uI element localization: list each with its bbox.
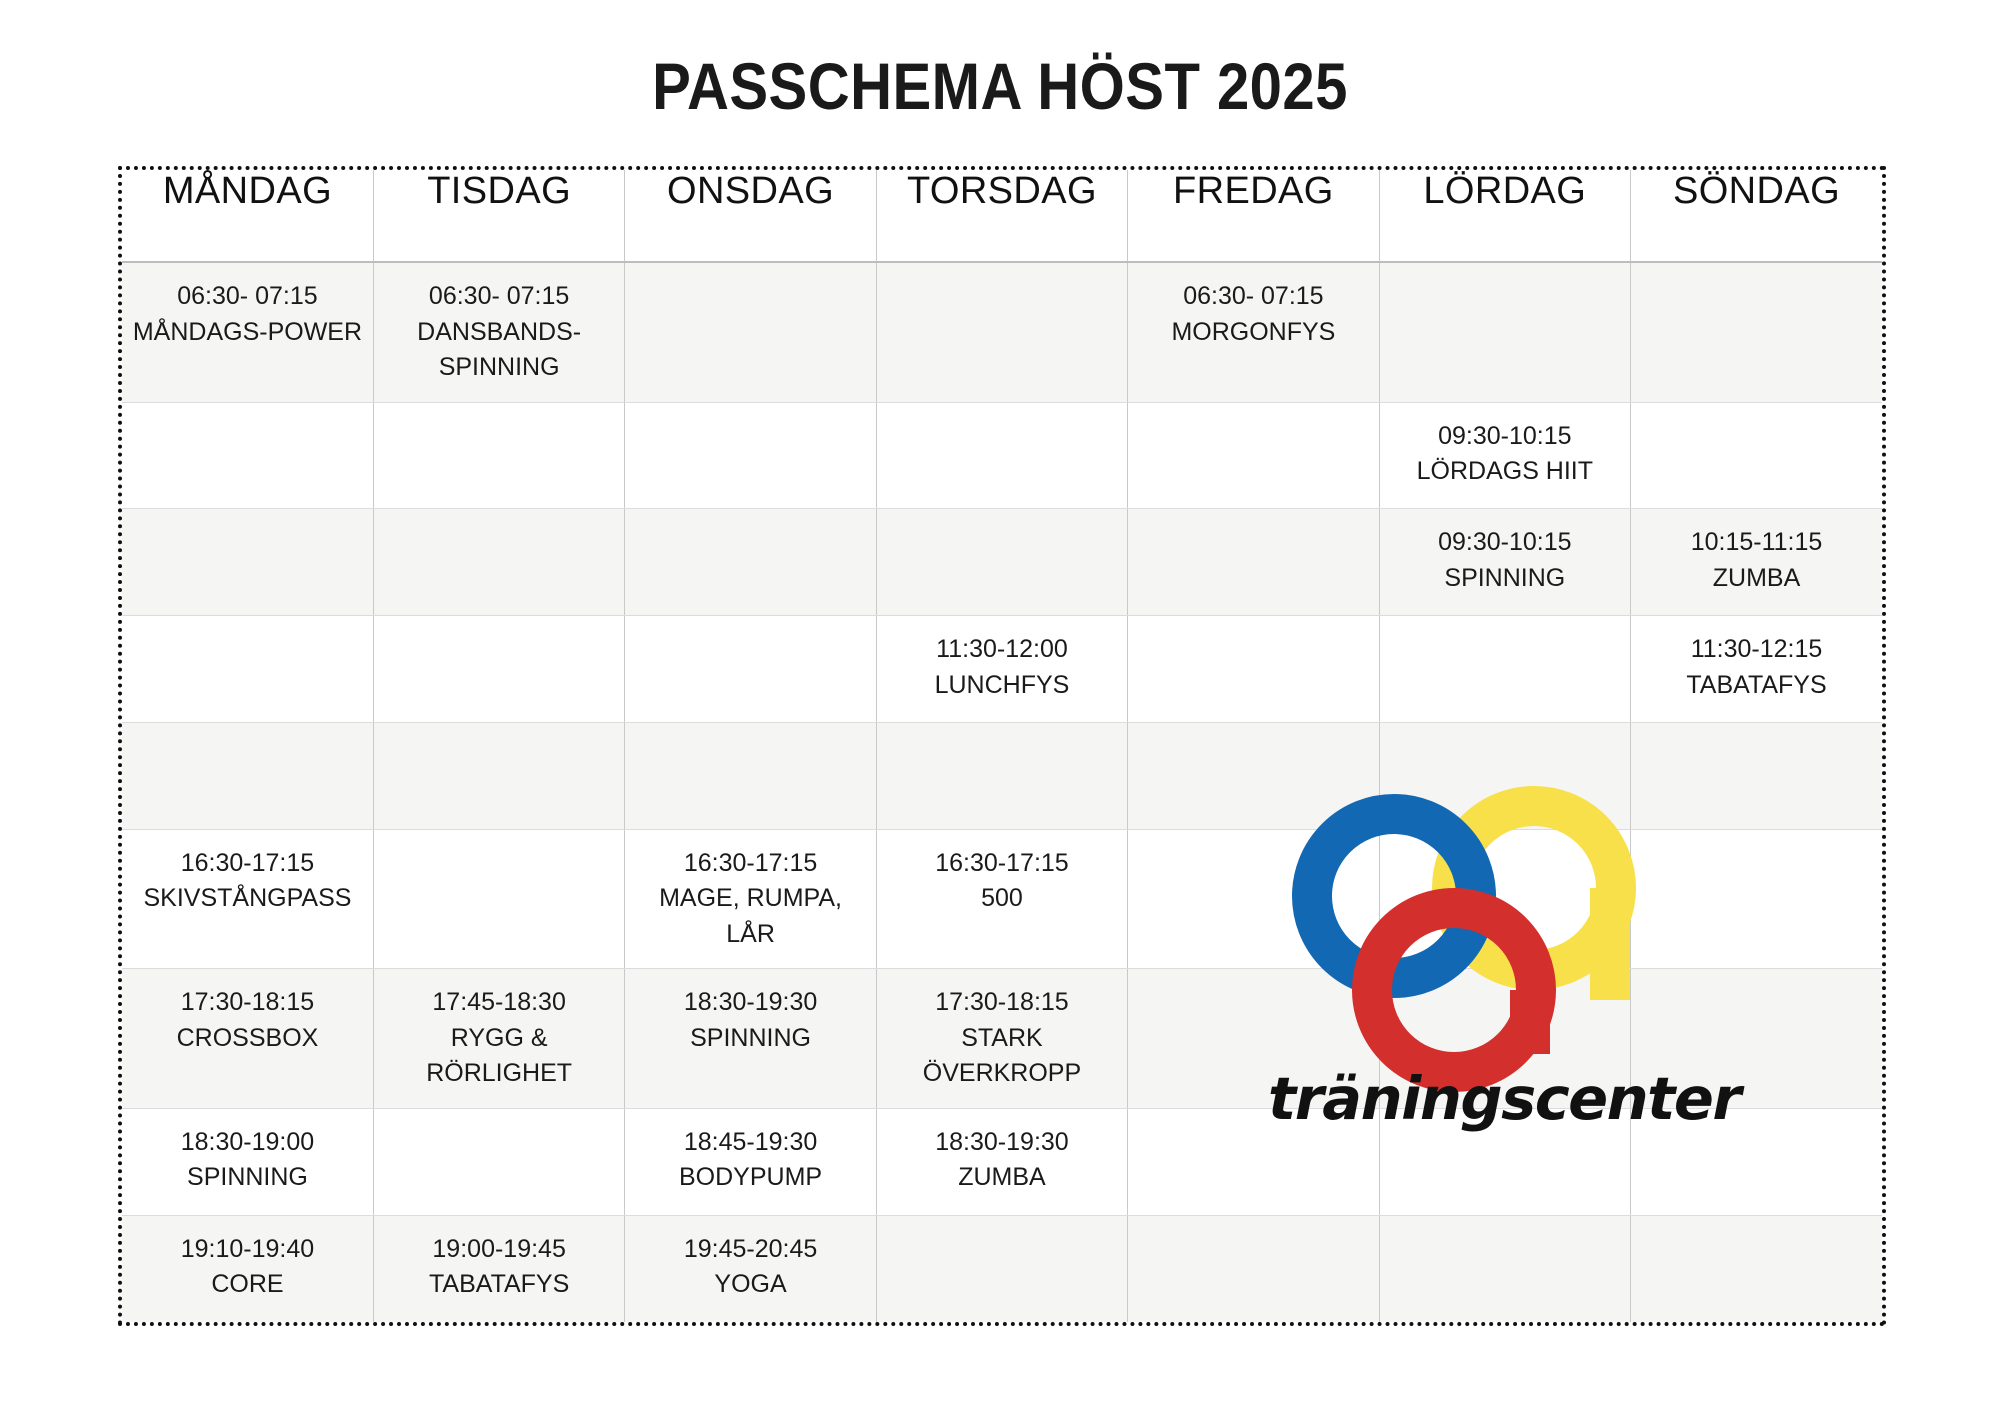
cell-content — [625, 403, 875, 426]
schedule-empty-cell — [373, 829, 624, 969]
empty-slot — [885, 279, 1119, 280]
empty-slot — [382, 419, 616, 420]
cell-content — [1128, 723, 1378, 746]
empty-slot — [1639, 1125, 1874, 1126]
cell-content: 18:30-19:30SPINNING — [625, 969, 875, 1062]
class-name: RYGG & RÖRLIGHET — [382, 1021, 616, 1092]
schedule-row: 16:30-17:15SKIVSTÅNGPASS16:30-17:15MAGE,… — [122, 829, 1882, 969]
class-name: 500 — [885, 881, 1119, 917]
empty-slot — [130, 525, 365, 526]
schedule-empty-cell — [373, 1108, 624, 1215]
class-time: 17:45-18:30 — [382, 985, 616, 1021]
cell-content — [1128, 403, 1378, 426]
cell-content — [374, 403, 624, 426]
cell-content — [625, 723, 875, 746]
empty-slot — [1136, 1232, 1370, 1233]
empty-slot — [885, 739, 1119, 740]
schedule-row: 17:30-18:15CROSSBOX17:45-18:30RYGG & RÖR… — [122, 969, 1882, 1109]
class-name: TABATAFYS — [1639, 668, 1874, 704]
weekday-header-söndag: SÖNDAG — [1631, 170, 1882, 262]
cell-content: 06:30- 07:15MORGONFYS — [1128, 263, 1378, 356]
cell-content — [374, 830, 624, 853]
schedule-empty-cell — [876, 262, 1127, 402]
class-time: 11:30-12:15 — [1639, 632, 1874, 668]
schedule-class-cell[interactable]: 18:45-19:30BODYPUMP — [625, 1108, 876, 1215]
schedule-row: 18:30-19:00SPINNING18:45-19:30BODYPUMP18… — [122, 1108, 1882, 1215]
cell-content: 16:30-17:15MAGE, RUMPA, LÅR — [625, 830, 875, 959]
schedule-empty-cell — [1631, 829, 1882, 969]
class-name: SKIVSTÅNGPASS — [130, 881, 365, 917]
class-name: CORE — [130, 1267, 365, 1303]
empty-slot — [1639, 279, 1874, 280]
empty-slot — [382, 846, 616, 847]
cell-content: 17:30-18:15STARK ÖVERKROPP — [877, 969, 1127, 1098]
empty-slot — [1136, 525, 1370, 526]
class-name: TABATAFYS — [382, 1267, 616, 1303]
schedule-empty-cell — [1379, 969, 1630, 1109]
cell-content — [374, 723, 624, 746]
class-time: 18:30-19:00 — [130, 1125, 365, 1161]
schedule-empty-cell — [1379, 616, 1630, 723]
schedule-empty-cell — [1128, 722, 1379, 829]
cell-content: 18:30-19:00SPINNING — [122, 1109, 373, 1202]
empty-slot — [633, 739, 867, 740]
empty-slot — [1639, 985, 1874, 986]
schedule-empty-cell — [1631, 969, 1882, 1109]
schedule-empty-cell — [876, 1215, 1127, 1322]
class-name: MORGONFYS — [1136, 315, 1370, 351]
class-time: 16:30-17:15 — [885, 846, 1119, 882]
schedule-row: 09:30-10:15LÖRDAGS HIIT — [122, 402, 1882, 509]
schedule-empty-cell — [1379, 722, 1630, 829]
empty-slot — [1388, 1125, 1622, 1126]
cell-content — [1631, 263, 1882, 286]
schedule-class-cell[interactable]: 06:30- 07:15DANSBANDS-SPINNING — [373, 262, 624, 402]
cell-content — [1380, 723, 1630, 746]
cell-content: 06:30- 07:15MÅNDAGS-POWER — [122, 263, 373, 356]
empty-slot — [633, 279, 867, 280]
schedule-class-cell[interactable]: 16:30-17:15500 — [876, 829, 1127, 969]
cell-content — [122, 509, 373, 532]
empty-slot — [1136, 632, 1370, 633]
cell-content — [1128, 616, 1378, 639]
schedule-empty-cell — [625, 722, 876, 829]
cell-content: 19:00-19:45TABATAFYS — [374, 1216, 624, 1309]
schedule-class-cell[interactable]: 17:30-18:15STARK ÖVERKROPP — [876, 969, 1127, 1109]
schedule-class-cell[interactable]: 11:30-12:15TABATAFYS — [1631, 616, 1882, 723]
empty-slot — [382, 525, 616, 526]
cell-content — [1128, 830, 1378, 853]
schedule-empty-cell — [625, 509, 876, 616]
empty-slot — [633, 632, 867, 633]
schedule-empty-cell — [373, 509, 624, 616]
cell-content — [1631, 830, 1882, 853]
schedule-empty-cell — [122, 509, 373, 616]
schedule-class-cell[interactable]: 11:30-12:00LUNCHFYS — [876, 616, 1127, 723]
weekday-header-tisdag: TISDAG — [373, 170, 624, 262]
class-name: LUNCHFYS — [885, 668, 1119, 704]
empty-slot — [1639, 419, 1874, 420]
schedule-empty-cell — [876, 722, 1127, 829]
schedule-class-cell[interactable]: 06:30- 07:15MORGONFYS — [1128, 262, 1379, 402]
empty-slot — [885, 1232, 1119, 1233]
class-name: STARK ÖVERKROPP — [885, 1021, 1119, 1092]
weekday-header-måndag: MÅNDAG — [122, 170, 373, 262]
empty-slot — [382, 739, 616, 740]
cell-content: 06:30- 07:15DANSBANDS-SPINNING — [374, 263, 624, 392]
class-name: SPINNING — [1388, 561, 1622, 597]
cell-content — [1380, 263, 1630, 286]
cell-content: 17:45-18:30RYGG & RÖRLIGHET — [374, 969, 624, 1098]
cell-content: 11:30-12:00LUNCHFYS — [877, 616, 1127, 709]
cell-content — [374, 509, 624, 532]
cell-content — [1380, 616, 1630, 639]
empty-slot — [1136, 419, 1370, 420]
schedule-row: 06:30- 07:15MÅNDAGS-POWER06:30- 07:15DAN… — [122, 262, 1882, 402]
schedule-class-cell[interactable]: 18:30-19:00SPINNING — [122, 1108, 373, 1215]
schedule-empty-cell — [122, 616, 373, 723]
class-name: SPINNING — [633, 1021, 867, 1057]
schedule-class-cell[interactable]: 16:30-17:15MAGE, RUMPA, LÅR — [625, 829, 876, 969]
class-name: DANSBANDS-SPINNING — [382, 315, 616, 386]
cell-content: 19:45-20:45YOGA — [625, 1216, 875, 1309]
schedule-empty-cell — [1128, 509, 1379, 616]
class-time: 19:45-20:45 — [633, 1232, 867, 1268]
empty-slot — [1136, 985, 1370, 986]
schedule-class-cell[interactable]: 19:00-19:45TABATAFYS — [373, 1215, 624, 1322]
weekday-header-onsdag: ONSDAG — [625, 170, 876, 262]
class-time: 09:30-10:15 — [1388, 419, 1622, 455]
cell-content — [1380, 969, 1630, 992]
empty-slot — [130, 632, 365, 633]
schedule-empty-cell — [1631, 402, 1882, 509]
schedule-empty-cell — [373, 722, 624, 829]
empty-slot — [1639, 846, 1874, 847]
cell-content — [1631, 1216, 1882, 1239]
cell-content — [1631, 1109, 1882, 1132]
schedule-empty-cell — [373, 402, 624, 509]
schedule-row: 09:30-10:15SPINNING10:15-11:15ZUMBA — [122, 509, 1882, 616]
empty-slot — [633, 525, 867, 526]
cell-content — [374, 1109, 624, 1132]
empty-slot — [1388, 739, 1622, 740]
cell-content — [625, 616, 875, 639]
weekday-header-fredag: FREDAG — [1128, 170, 1379, 262]
schedule-empty-cell — [625, 262, 876, 402]
schedule-row — [122, 722, 1882, 829]
weekday-header-lördag: LÖRDAG — [1379, 170, 1630, 262]
class-time: 09:30-10:15 — [1388, 525, 1622, 561]
schedule-empty-cell — [1128, 402, 1379, 509]
class-time: 18:30-19:30 — [633, 985, 867, 1021]
empty-slot — [885, 525, 1119, 526]
empty-slot — [1136, 846, 1370, 847]
cell-content: 18:45-19:30BODYPUMP — [625, 1109, 875, 1202]
schedule-empty-cell — [1128, 616, 1379, 723]
empty-slot — [1388, 279, 1622, 280]
cell-content — [1631, 403, 1882, 426]
schedule-empty-cell — [1631, 1215, 1882, 1322]
cell-content: 17:30-18:15CROSSBOX — [122, 969, 373, 1062]
empty-slot — [1388, 846, 1622, 847]
cell-content — [1128, 509, 1378, 532]
cell-content — [1631, 723, 1882, 746]
class-time: 16:30-17:15 — [130, 846, 365, 882]
schedule-empty-cell — [1379, 829, 1630, 969]
schedule-class-cell[interactable]: 18:30-19:30ZUMBA — [876, 1108, 1127, 1215]
class-time: 10:15-11:15 — [1639, 525, 1874, 561]
schedule-empty-cell — [1631, 1108, 1882, 1215]
page-title: PASSCHEMA HÖST 2025 — [120, 0, 1880, 138]
cell-content — [1128, 969, 1378, 992]
cell-content — [374, 616, 624, 639]
class-time: 18:45-19:30 — [633, 1125, 867, 1161]
schedule-row: 11:30-12:00LUNCHFYS11:30-12:15TABATAFYS — [122, 616, 1882, 723]
schedule-class-cell[interactable]: 09:30-10:15SPINNING — [1379, 509, 1630, 616]
cell-content: 16:30-17:15500 — [877, 830, 1127, 923]
cell-content — [122, 723, 373, 746]
schedule-empty-cell — [876, 402, 1127, 509]
class-time: 11:30-12:00 — [885, 632, 1119, 668]
class-time: 17:30-18:15 — [885, 985, 1119, 1021]
cell-content: 10:15-11:15ZUMBA — [1631, 509, 1882, 602]
class-time: 19:00-19:45 — [382, 1232, 616, 1268]
class-name: MÅNDAGS-POWER — [130, 315, 365, 351]
schedule-table-head: MÅNDAGTISDAGONSDAGTORSDAGFREDAGLÖRDAGSÖN… — [122, 170, 1882, 262]
class-name: CROSSBOX — [130, 1021, 365, 1057]
class-time: 06:30- 07:15 — [130, 279, 365, 315]
empty-slot — [1388, 985, 1622, 986]
cell-content — [1128, 1109, 1378, 1132]
cell-content — [122, 616, 373, 639]
schedule-empty-cell — [373, 616, 624, 723]
weekday-header-row: MÅNDAGTISDAGONSDAGTORSDAGFREDAGLÖRDAGSÖN… — [122, 170, 1882, 262]
empty-slot — [1136, 1125, 1370, 1126]
cell-content — [877, 1216, 1127, 1239]
class-time: 16:30-17:15 — [633, 846, 867, 882]
schedule-class-cell[interactable]: 19:45-20:45YOGA — [625, 1215, 876, 1322]
schedule-class-cell[interactable]: 17:45-18:30RYGG & RÖRLIGHET — [373, 969, 624, 1109]
schedule-empty-cell — [625, 616, 876, 723]
class-time: 18:30-19:30 — [885, 1125, 1119, 1161]
schedule-empty-cell — [1379, 1215, 1630, 1322]
empty-slot — [382, 632, 616, 633]
class-name: ZUMBA — [1639, 561, 1874, 597]
schedule-empty-cell — [1128, 969, 1379, 1109]
schedule-empty-cell — [1128, 1215, 1379, 1322]
cell-content — [877, 263, 1127, 286]
class-time: 17:30-18:15 — [130, 985, 365, 1021]
cell-content — [877, 403, 1127, 426]
cell-content — [877, 509, 1127, 532]
schedule-class-cell[interactable]: 18:30-19:30SPINNING — [625, 969, 876, 1109]
class-time: 06:30- 07:15 — [1136, 279, 1370, 315]
schedule-table: MÅNDAGTISDAGONSDAGTORSDAGFREDAGLÖRDAGSÖN… — [122, 170, 1882, 1322]
empty-slot — [1639, 739, 1874, 740]
class-name: MAGE, RUMPA, LÅR — [633, 881, 867, 952]
schedule-class-cell[interactable]: 09:30-10:15LÖRDAGS HIIT — [1379, 402, 1630, 509]
cell-content — [625, 509, 875, 532]
cell-content: 11:30-12:15TABATAFYS — [1631, 616, 1882, 709]
cell-content — [1380, 1109, 1630, 1132]
empty-slot — [382, 1125, 616, 1126]
empty-slot — [1388, 632, 1622, 633]
schedule-class-cell[interactable]: 10:15-11:15ZUMBA — [1631, 509, 1882, 616]
schedule-empty-cell — [1379, 262, 1630, 402]
schedule-empty-cell — [1379, 1108, 1630, 1215]
class-time: 06:30- 07:15 — [382, 279, 616, 315]
cell-content — [1128, 1216, 1378, 1239]
schedule-class-cell[interactable]: 06:30- 07:15MÅNDAGS-POWER — [122, 262, 373, 402]
schedule-empty-cell — [1128, 1108, 1379, 1215]
empty-slot — [885, 419, 1119, 420]
cell-content — [1631, 969, 1882, 992]
class-name: ZUMBA — [885, 1160, 1119, 1196]
class-name: SPINNING — [130, 1160, 365, 1196]
class-time: 19:10-19:40 — [130, 1232, 365, 1268]
schedule-empty-cell — [1631, 262, 1882, 402]
empty-slot — [1136, 739, 1370, 740]
schedule-row: 19:10-19:40CORE19:00-19:45TABATAFYS19:45… — [122, 1215, 1882, 1322]
cell-content: 18:30-19:30ZUMBA — [877, 1109, 1127, 1202]
empty-slot — [633, 419, 867, 420]
schedule-empty-cell — [1128, 829, 1379, 969]
schedule-empty-cell — [1631, 722, 1882, 829]
schedule-table-container: MÅNDAGTISDAGONSDAGTORSDAGFREDAGLÖRDAGSÖN… — [118, 166, 1886, 1326]
schedule-class-cell[interactable]: 19:10-19:40CORE — [122, 1215, 373, 1322]
schedule-empty-cell — [876, 509, 1127, 616]
schedule-class-cell[interactable]: 16:30-17:15SKIVSTÅNGPASS — [122, 829, 373, 969]
cell-content — [877, 723, 1127, 746]
cell-content — [1380, 830, 1630, 853]
schedule-class-cell[interactable]: 17:30-18:15CROSSBOX — [122, 969, 373, 1109]
empty-slot — [130, 739, 365, 740]
cell-content — [625, 263, 875, 286]
schedule-empty-cell — [625, 402, 876, 509]
schedule-empty-cell — [122, 722, 373, 829]
schedule-table-body: 06:30- 07:15MÅNDAGS-POWER06:30- 07:15DAN… — [122, 262, 1882, 1322]
cell-content: 09:30-10:15LÖRDAGS HIIT — [1380, 403, 1630, 496]
empty-slot — [1639, 1232, 1874, 1233]
empty-slot — [130, 419, 365, 420]
cell-content: 19:10-19:40CORE — [122, 1216, 373, 1309]
empty-slot — [1388, 1232, 1622, 1233]
cell-content — [1380, 1216, 1630, 1239]
cell-content — [122, 403, 373, 426]
class-name: BODYPUMP — [633, 1160, 867, 1196]
weekday-header-torsdag: TORSDAG — [876, 170, 1127, 262]
cell-content: 16:30-17:15SKIVSTÅNGPASS — [122, 830, 373, 923]
class-name: YOGA — [633, 1267, 867, 1303]
class-name: LÖRDAGS HIIT — [1388, 454, 1622, 490]
cell-content: 09:30-10:15SPINNING — [1380, 509, 1630, 602]
schedule-empty-cell — [122, 402, 373, 509]
